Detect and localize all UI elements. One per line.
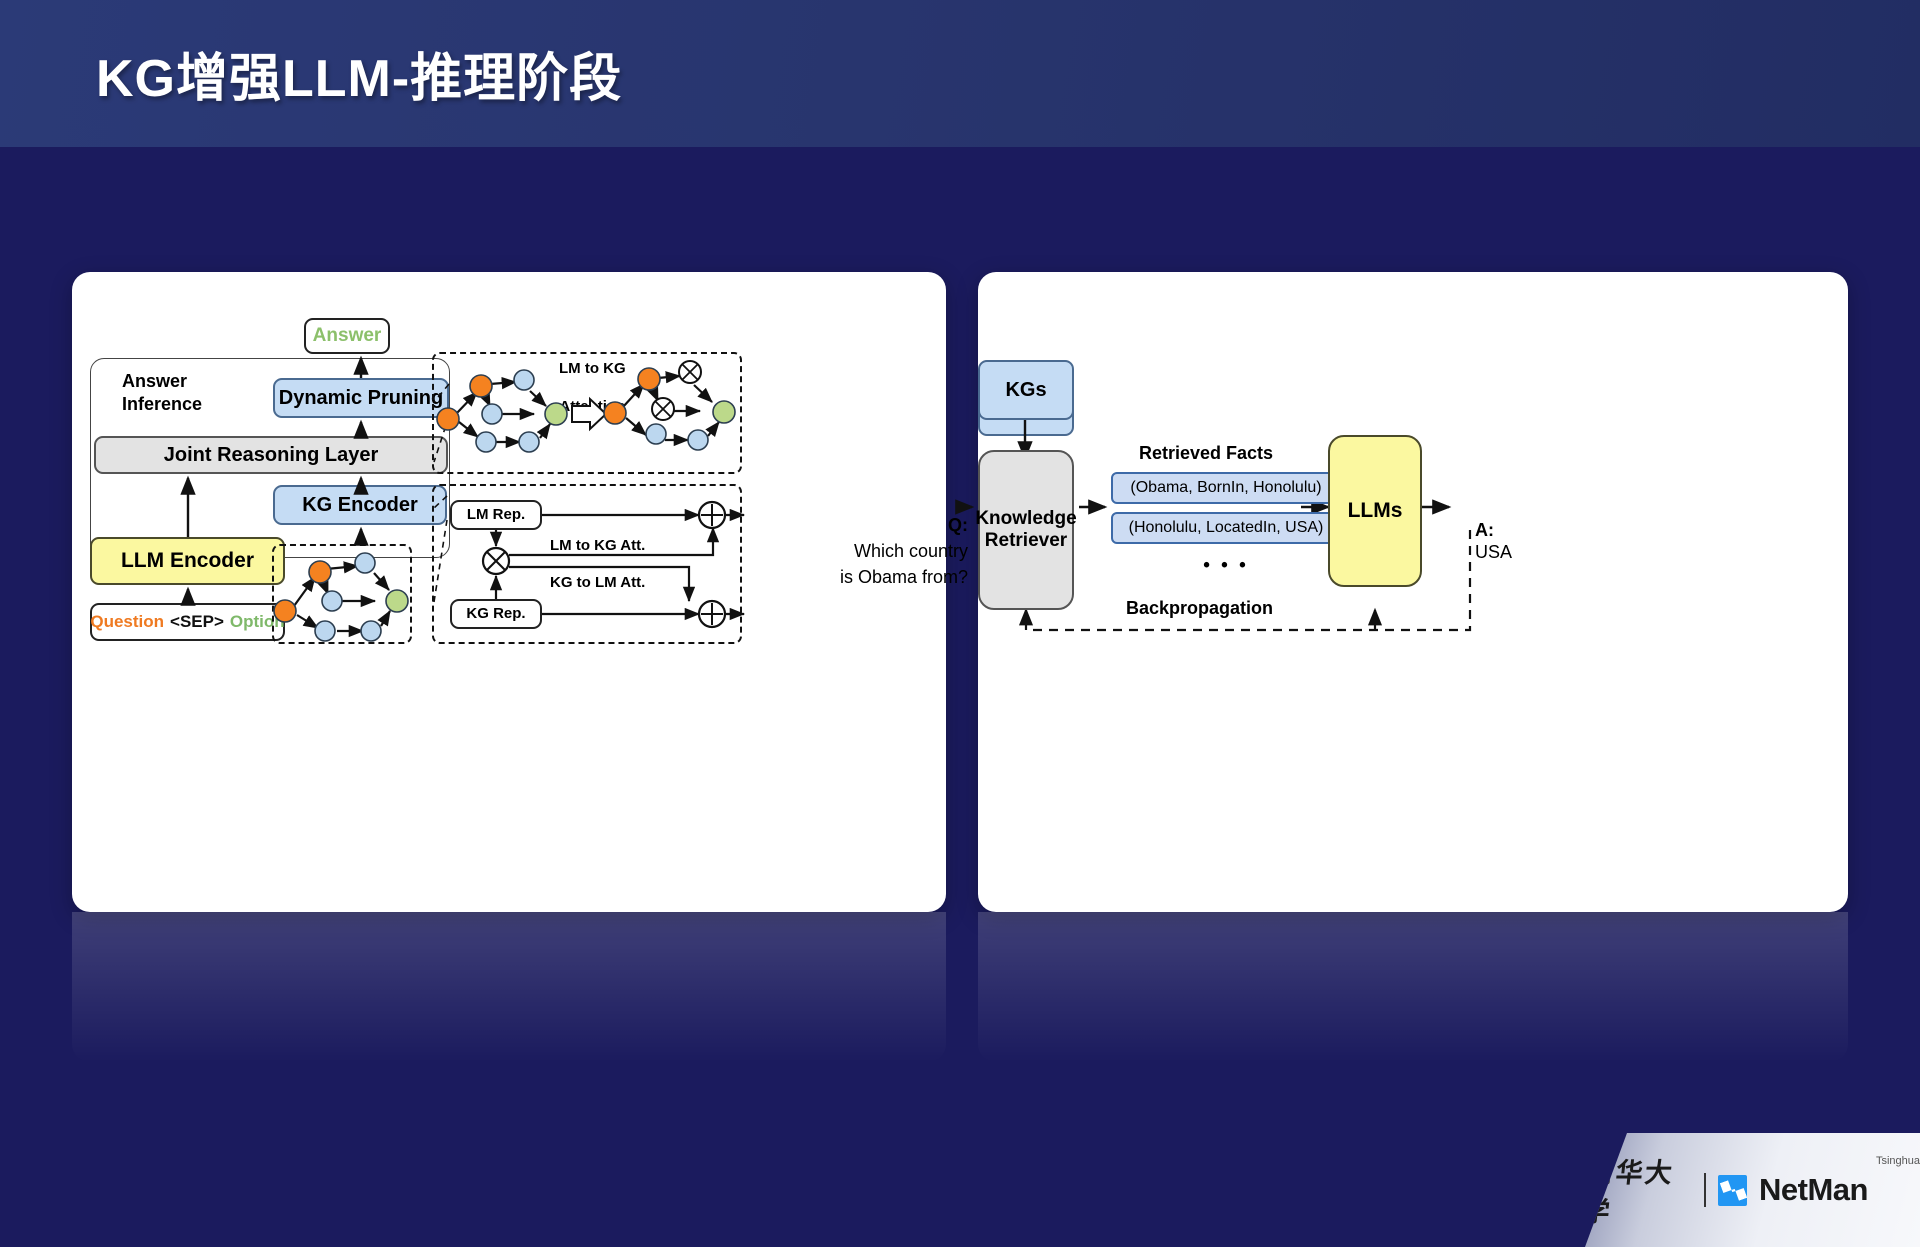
lm-to-kg-att-label: LM to KG Att. [550,537,645,556]
answer-value-label: USA [1475,542,1512,562]
joint-reasoning-layer-box: Joint Reasoning Layer [94,436,448,474]
retrieved-facts-ellipsis: • • • [1111,554,1341,578]
input-question-text: Q: Which countryis Obama from? [818,486,968,616]
kg-encoder-box: KG Encoder [273,485,447,525]
page-title: KG增强LLM-推理阶段 [96,36,622,111]
retrieved-facts-title: Retrieved Facts [1111,442,1301,465]
sep-token-label: <SEP> [170,612,224,632]
question-sep-option-input-box: Question<SEP>Option [90,603,285,641]
lm-to-kg-attention-label-line2: Attention [559,398,625,415]
question-line1: Which country [854,541,968,561]
answer-inference-label-line2: Inference [122,394,202,414]
kgs-box-main: KGs [978,360,1074,420]
kg-subgraph-dashed-box [272,544,412,644]
question-token-label: Question [90,612,164,632]
answer-inference-label: AnswerInference [122,370,202,415]
kg-rep-box: KG Rep. [450,599,542,629]
answer-output-text: A: USA [1455,496,1512,586]
retrieved-fact-item-2: (Honolulu, LocatedIn, USA) [1111,512,1341,544]
right-panel-vector-overlay [978,272,1848,912]
left-diagram-panel: Answer AnswerInference Dynamic Pruning J… [72,272,946,912]
knowledge-retriever-line1: Knowledge [975,508,1076,530]
retrieved-fact-item-1: (Obama, BornIn, Honolulu) [1111,472,1341,504]
footer-logo-plate: 清华大学 NetMan Tsinghua [1585,1133,1920,1247]
llm-encoder-box: LLM Encoder [90,537,285,585]
knowledge-retriever-line2: Retriever [985,530,1067,552]
backpropagation-label: Backpropagation [1126,597,1273,620]
slide-header-band: KG增强LLM-推理阶段 [0,0,1920,147]
right-diagram-panel: KGs Q: Which countryis Obama from? Knowl… [978,272,1848,912]
dynamic-pruning-box: Dynamic Pruning [273,378,449,418]
question-line2: is Obama from? [840,567,968,587]
lm-to-kg-attention-label: LM to KGAttention [559,360,626,416]
llms-box: LLMs [1328,435,1422,587]
question-prefix-label: Q: [948,515,968,535]
answer-prefix-label: A: [1475,520,1494,540]
answer-output-box: Answer [304,318,390,354]
knowledge-retriever-box: Knowledge Retriever [978,450,1074,610]
netman-mark-icon [1718,1175,1747,1206]
logo-divider [1704,1173,1706,1207]
kg-to-lm-att-label: KG to LM Att. [550,574,645,593]
netman-brand-text: NetMan [1759,1172,1868,1208]
netman-brand-superscript: Tsinghua [1876,1155,1920,1167]
lm-to-kg-attention-label-line1: LM to KG [559,360,626,377]
answer-inference-label-line1: Answer [122,371,187,391]
lm-rep-box: LM Rep. [450,500,542,530]
